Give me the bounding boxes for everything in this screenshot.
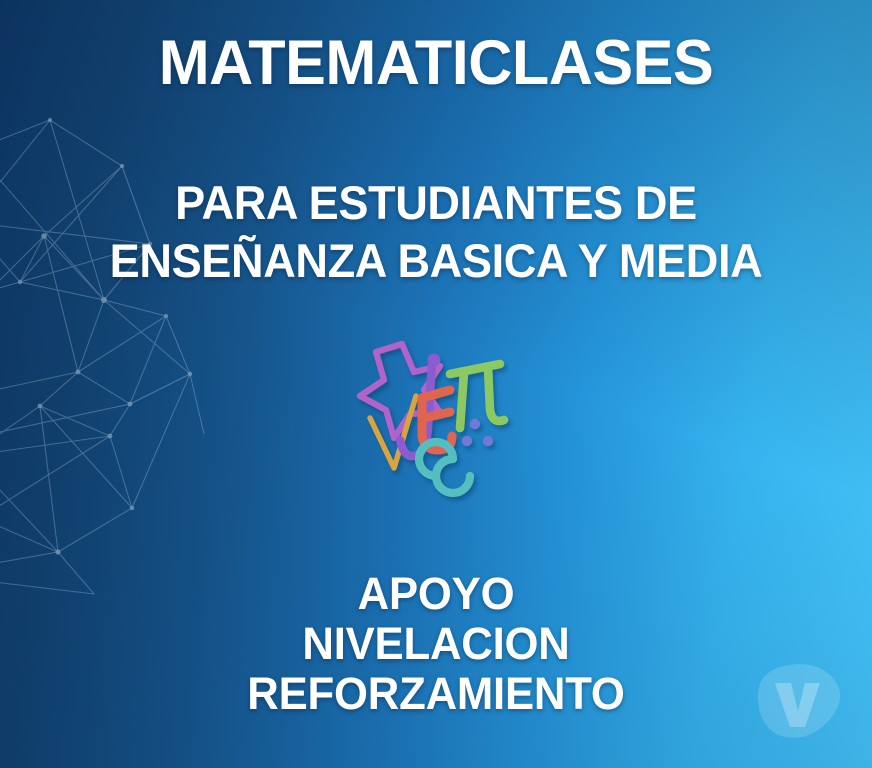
dot-2 [462, 436, 472, 446]
math-symbols-logo [354, 336, 530, 504]
tagline-line-2: NIVELACION [13, 619, 859, 669]
page-title: MATEMATICLASES [13, 28, 859, 98]
dot-3 [483, 436, 493, 446]
watermark-v-logo [744, 655, 848, 747]
dot-1 [470, 419, 480, 429]
subtitle-line-2: ENSEÑANZA BASICA Y MEDIA [17, 232, 854, 290]
pi-left-leg [460, 372, 464, 428]
pi-right-leg [488, 368, 504, 421]
subtitle: PARA ESTUDIANTES DE ENSEÑANZA BASICA Y M… [17, 174, 854, 290]
subtitle-line-1: PARA ESTUDIANTES DE [17, 174, 854, 232]
tagline: APOYO NIVELACION REFORZAMIENTO [13, 569, 859, 719]
poster-canvas: MATEMATICLASES PARA ESTUDIANTES DE ENSEÑ… [0, 0, 872, 768]
radical-dot [428, 354, 441, 367]
tagline-line-1: APOYO [13, 569, 859, 619]
dots-symbol [462, 419, 493, 446]
tagline-line-3: REFORZAMIENTO [13, 669, 859, 719]
